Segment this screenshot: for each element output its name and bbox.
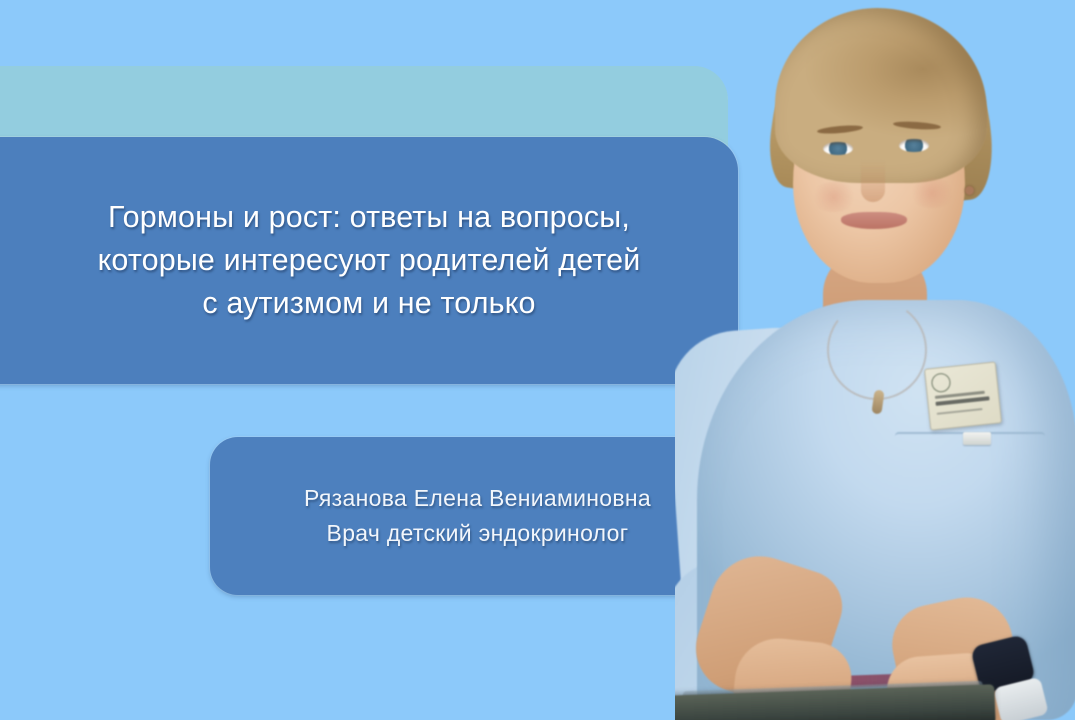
earring-icon (965, 186, 974, 195)
speaker-role: Врач детский эндокринолог (304, 516, 651, 551)
slide-title: Гормоны и рост: ответы на вопросы, котор… (0, 196, 708, 326)
pen-icon (963, 432, 991, 445)
speaker-name: Рязанова Елена Вениаминовна (304, 481, 651, 516)
presentation-slide: Гормоны и рост: ответы на вопросы, котор… (0, 0, 1075, 720)
title-panel: Гормоны и рост: ответы на вопросы, котор… (0, 137, 738, 384)
name-badge (924, 361, 1002, 430)
eye-left (823, 142, 853, 155)
badge-line-3 (937, 408, 983, 415)
title-line-2: которые интересуют родителей детей (30, 239, 708, 282)
nose (861, 160, 885, 202)
speaker-info: Рязанова Елена Вениаминовна Врач детский… (304, 481, 651, 551)
clinic-logo-icon (931, 372, 952, 393)
presenter-photo (675, 0, 1075, 720)
hair (775, 8, 987, 183)
eye-right (899, 139, 929, 152)
mouth (841, 212, 907, 229)
title-line-3: с аутизмом и не только (30, 282, 708, 325)
cheek-right (909, 178, 955, 208)
title-line-1: Гормоны и рост: ответы на вопросы, (30, 196, 708, 239)
cheek-left (811, 182, 857, 212)
speaker-panel: Рязанова Елена Вениаминовна Врач детский… (210, 437, 745, 595)
